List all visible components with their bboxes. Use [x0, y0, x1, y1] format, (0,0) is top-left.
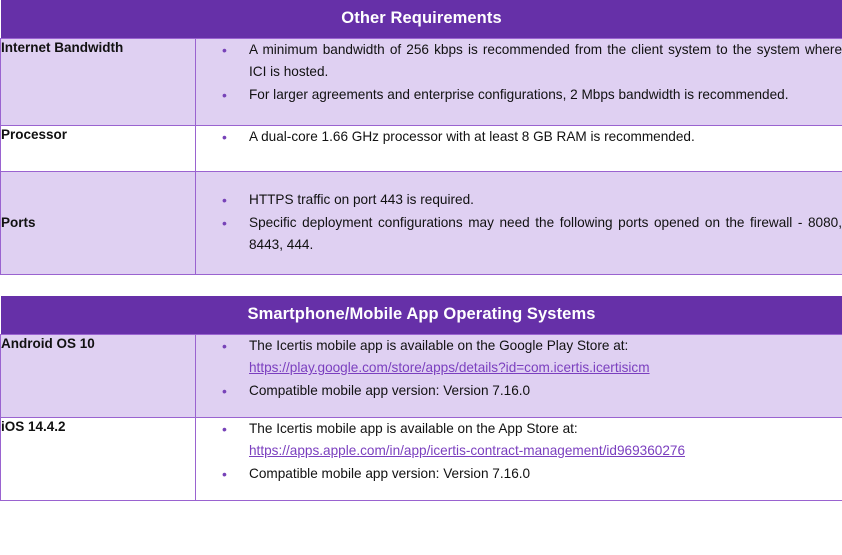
row-label-android-os: Android OS 10 [1, 335, 196, 418]
table-title-mobile-os: Smartphone/Mobile App Operating Systems [1, 296, 842, 335]
table-mobile-os: Smartphone/Mobile App Operating Systems … [0, 296, 842, 501]
list-item: The Icertis mobile app is available on t… [196, 335, 842, 379]
bullet-list: The Icertis mobile app is available on t… [196, 418, 842, 485]
bullet-list: The Icertis mobile app is available on t… [196, 335, 842, 402]
row-label-internet-bandwidth: Internet Bandwidth [1, 39, 196, 126]
list-item: Specific deployment configurations may n… [196, 212, 842, 256]
google-play-store-link[interactable]: https://play.google.com/store/apps/detai… [249, 357, 842, 379]
table-row: Internet Bandwidth A minimum bandwidth o… [1, 39, 842, 126]
app-store-link[interactable]: https://apps.apple.com/in/app/icertis-co… [249, 440, 842, 462]
row-label-ports: Ports [1, 172, 196, 275]
list-item: A dual-core 1.66 GHz processor with at l… [196, 126, 842, 148]
row-content-processor: A dual-core 1.66 GHz processor with at l… [196, 126, 842, 172]
table-row: Android OS 10 The Icertis mobile app is … [1, 335, 842, 418]
list-item: Compatible mobile app version: Version 7… [196, 463, 842, 485]
row-label-ios: iOS 14.4.2 [1, 418, 196, 501]
table-title-other-requirements: Other Requirements [1, 0, 842, 39]
list-item: A minimum bandwidth of 256 kbps is recom… [196, 39, 842, 83]
list-item: HTTPS traffic on port 443 is required. [196, 189, 842, 211]
bullet-list: HTTPS traffic on port 443 is required. S… [196, 189, 842, 256]
document-page: Other Requirements Internet Bandwidth A … [0, 0, 842, 555]
row-content-internet-bandwidth: A minimum bandwidth of 256 kbps is recom… [196, 39, 842, 126]
table-separator-gap [0, 275, 842, 296]
bullet-list: A dual-core 1.66 GHz processor with at l… [196, 126, 842, 148]
table-header-row: Other Requirements [1, 0, 842, 39]
table-row: Ports HTTPS traffic on port 443 is requi… [1, 172, 842, 275]
table-other-requirements: Other Requirements Internet Bandwidth A … [0, 0, 842, 275]
bullet-list: A minimum bandwidth of 256 kbps is recom… [196, 39, 842, 106]
table-row: Processor A dual-core 1.66 GHz processor… [1, 126, 842, 172]
row-content-ports: HTTPS traffic on port 443 is required. S… [196, 172, 842, 275]
row-label-processor: Processor [1, 126, 196, 172]
table-row: iOS 14.4.2 The Icertis mobile app is ava… [1, 418, 842, 501]
list-item-text: The Icertis mobile app is available on t… [249, 335, 842, 357]
list-item-text: The Icertis mobile app is available on t… [249, 418, 842, 440]
row-content-ios: The Icertis mobile app is available on t… [196, 418, 842, 501]
list-item: For larger agreements and enterprise con… [196, 84, 842, 106]
list-item: Compatible mobile app version: Version 7… [196, 380, 842, 402]
table-header-row: Smartphone/Mobile App Operating Systems [1, 296, 842, 335]
row-content-android-os: The Icertis mobile app is available on t… [196, 335, 842, 418]
list-item: The Icertis mobile app is available on t… [196, 418, 842, 462]
